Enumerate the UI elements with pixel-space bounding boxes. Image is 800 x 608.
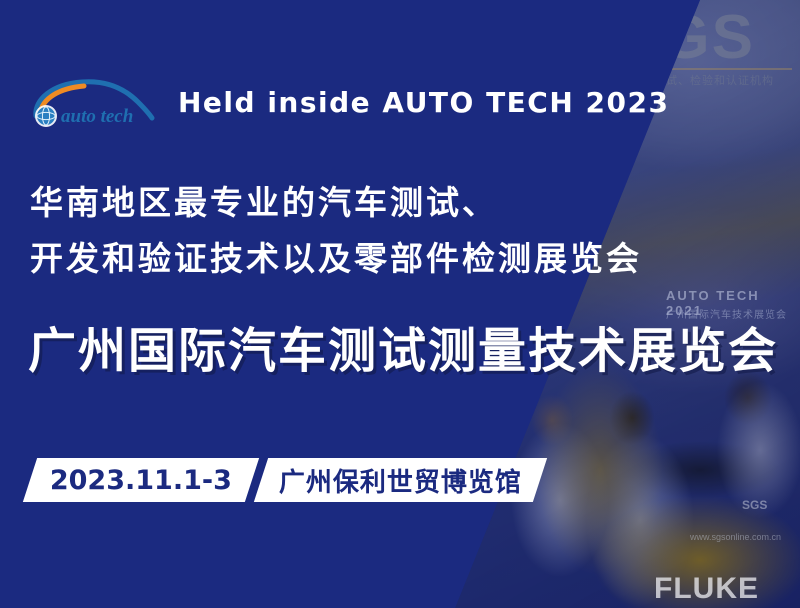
date-venue-badges: 2023.11.1-3 广州保利世贸博览馆 [30,458,540,502]
date-badge-label: 2023.11.1-3 [50,465,232,496]
exhibition-banner: SGS 公认的测试、检验和认证机构 AUTO TECH 2021 广州国际汽车技… [0,0,800,608]
banner-content: auto tech Held inside AUTO TECH 2023 华南地… [0,0,800,608]
held-inside-title: Held inside AUTO TECH 2023 [178,86,669,119]
svg-text:auto tech: auto tech [61,106,133,127]
subtitle-line-2: 开发和验证技术以及零部件检测展览会 [30,232,642,280]
subtitle-line-1: 华南地区最专业的汽车测试、 [30,176,498,224]
venue-badge: 广州保利世贸博览馆 [254,458,547,502]
auto-tech-logo: auto tech [30,76,160,128]
logo-and-headline-row: auto tech Held inside AUTO TECH 2023 [30,76,669,128]
venue-badge-label: 广州保利世贸博览馆 [279,462,522,499]
page-title: 广州国际汽车测试测量技术展览会 [28,311,778,381]
date-badge: 2023.11.1-3 [23,458,259,502]
